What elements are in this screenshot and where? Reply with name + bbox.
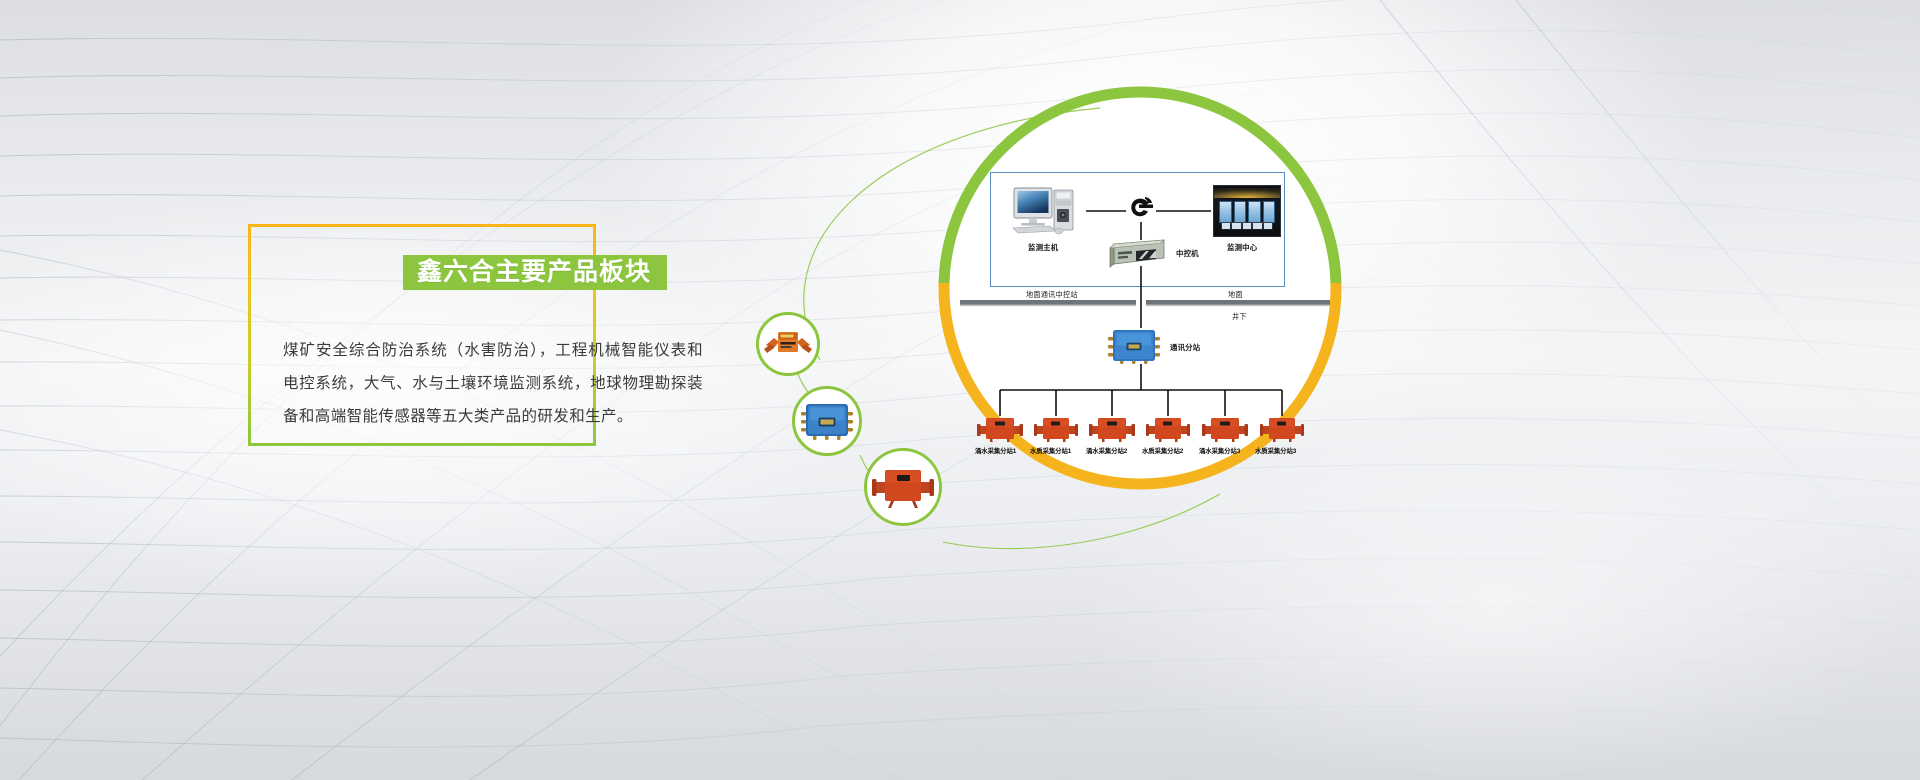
product-bubble-junction-box[interactable] xyxy=(792,386,862,456)
description-block: 煤矿安全综合防治系统（水害防治），工程机械智能仪表和电控系统，大气、水与土壤环境… xyxy=(283,334,703,433)
description-text: 煤矿安全综合防治系统（水害防治），工程机械智能仪表和电控系统，大气、水与土壤环境… xyxy=(283,334,703,433)
label-station-inflow-3: 涌水采集分站3 xyxy=(1199,446,1240,455)
ground-surface-line xyxy=(960,300,1330,306)
control-room-screens-icon xyxy=(1213,185,1281,237)
system-architecture-diagram: 监测主机 监测中心 xyxy=(960,160,1330,480)
red-flow-meter-icon xyxy=(1202,416,1248,442)
desktop-computer-icon xyxy=(1010,184,1082,239)
page-title-text: 鑫六合主要产品板块 xyxy=(417,255,651,290)
orange-clamp-sensor-icon xyxy=(764,329,812,359)
label-station-inflow-1: 涌水采集分站1 xyxy=(975,446,1016,455)
blue-junction-box-icon xyxy=(801,402,853,440)
red-flow-meter-icon xyxy=(1259,416,1305,442)
label-station-inflow-2: 涌水采集分站2 xyxy=(1086,446,1127,455)
label-ground-control-station: 地面通讯中控站 xyxy=(1026,290,1078,300)
red-flow-meter-icon xyxy=(977,416,1023,442)
internet-e-icon xyxy=(1126,194,1156,224)
label-monitor-host: 监测主机 xyxy=(1028,242,1058,253)
banner-root: 鑫六合主要产品板块 煤矿安全综合防治系统（水害防治），工程机械智能仪表和电控系统… xyxy=(0,0,1920,780)
red-flow-meter-icon xyxy=(1033,416,1079,442)
page-title: 鑫六合主要产品板块 xyxy=(403,255,667,290)
label-comm-substation: 通讯分站 xyxy=(1170,342,1200,353)
label-station-quality-3: 水质采集分站3 xyxy=(1255,446,1296,455)
product-bubble-sensor[interactable] xyxy=(756,312,820,376)
label-underground-zone: 井下 xyxy=(1232,312,1247,322)
label-central-controller: 中控机 xyxy=(1176,248,1199,259)
label-ground-zone: 地面 xyxy=(1228,290,1243,300)
red-flow-meter-icon xyxy=(1145,416,1191,442)
product-bubble-flow-meter[interactable] xyxy=(864,448,942,526)
label-station-quality-2: 水质采集分站2 xyxy=(1142,446,1183,455)
red-flow-meter-icon xyxy=(1089,416,1135,442)
red-flow-meter-icon xyxy=(872,466,934,508)
rack-server-icon xyxy=(1108,238,1170,268)
blue-junction-box-icon xyxy=(1108,328,1160,364)
label-monitor-center: 监测中心 xyxy=(1227,242,1257,253)
label-station-quality-1: 水质采集分站1 xyxy=(1030,446,1071,455)
